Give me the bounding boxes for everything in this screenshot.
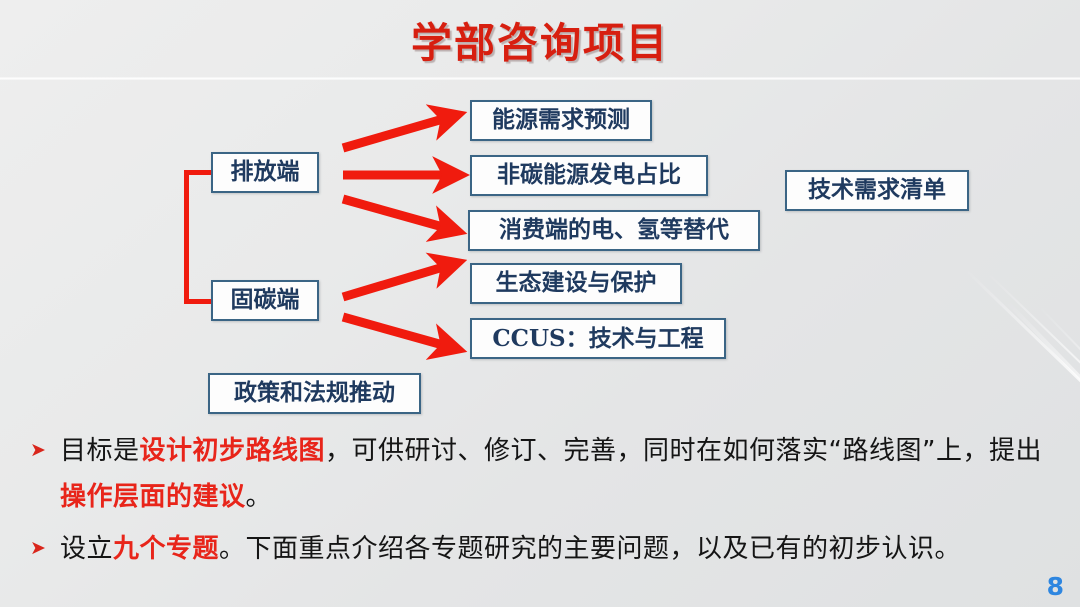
bracket-top-arm bbox=[184, 170, 214, 175]
node-ecological-construction-protection[interactable]: 生态建设与保护 bbox=[470, 263, 682, 304]
bullet-arrow-icon: ➤ bbox=[22, 526, 60, 572]
slide-canvas: 学部咨询项目 排放端 固碳端 政策和法规推动 能源需求预测 非碳能源发电占比 消… bbox=[0, 0, 1080, 607]
body-bullet-list: ➤ 目标是设计初步路线图，可供研讨、修订、完善，同时在如何落实“路线图”上，提出… bbox=[22, 428, 1062, 578]
plain-phrase: ，可供研讨、修订、完善，同时在如何落实“路线图”上，提出 bbox=[325, 436, 1042, 466]
plain-phrase: 设立 bbox=[60, 534, 113, 564]
node-consumer-electric-hydrogen-substitution[interactable]: 消费端的电、氢等替代 bbox=[468, 210, 760, 251]
arrow-emission-to-substitute bbox=[343, 199, 450, 229]
page-number: 8 bbox=[1047, 572, 1064, 601]
node-policy-regulation[interactable]: 政策和法规推动 bbox=[208, 373, 421, 414]
title-divider bbox=[0, 77, 1080, 80]
bullet-text-goal: 目标是设计初步路线图，可供研讨、修订、完善，同时在如何落实“路线图”上，提出操作… bbox=[60, 428, 1062, 520]
arrow-emission-to-demand bbox=[343, 117, 450, 148]
slide-header: 学部咨询项目 bbox=[0, 0, 1080, 78]
node-noncarbon-power-share[interactable]: 非碳能源发电占比 bbox=[470, 155, 708, 196]
node-ccus-technology-engineering[interactable]: CCUS：技术与工程 bbox=[470, 318, 726, 359]
plain-phrase: 目标是 bbox=[60, 436, 140, 466]
node-technology-requirement-list[interactable]: 技术需求清单 bbox=[785, 170, 969, 211]
bullet-arrow-icon: ➤ bbox=[22, 428, 60, 474]
node-carbon-sink-side[interactable]: 固碳端 bbox=[211, 280, 319, 321]
page-title: 学部咨询项目 bbox=[0, 9, 1080, 69]
arrow-carbon-to-ccus bbox=[343, 317, 450, 347]
highlighted-phrase: 九个专题 bbox=[113, 534, 219, 564]
node-emission-side[interactable]: 排放端 bbox=[211, 152, 319, 193]
bracket-bottom-arm bbox=[184, 299, 214, 304]
bracket-vertical-stem bbox=[184, 170, 189, 304]
arrow-carbon-to-eco bbox=[343, 265, 450, 297]
highlighted-phrase: 设计初步路线图 bbox=[140, 436, 326, 466]
list-item: ➤ 设立九个专题。下面重点介绍各专题研究的主要问题，以及已有的初步认识。 bbox=[22, 526, 1062, 572]
list-item: ➤ 目标是设计初步路线图，可供研讨、修订、完善，同时在如何落实“路线图”上，提出… bbox=[22, 428, 1062, 520]
plain-phrase: 。 bbox=[246, 482, 273, 512]
node-energy-demand-forecast[interactable]: 能源需求预测 bbox=[470, 100, 652, 141]
highlighted-phrase: 操作层面的建议 bbox=[60, 482, 246, 512]
plain-phrase: 。下面重点介绍各专题研究的主要问题，以及已有的初步认识。 bbox=[219, 534, 961, 564]
bullet-text-topics: 设立九个专题。下面重点介绍各专题研究的主要问题，以及已有的初步认识。 bbox=[60, 526, 1062, 572]
